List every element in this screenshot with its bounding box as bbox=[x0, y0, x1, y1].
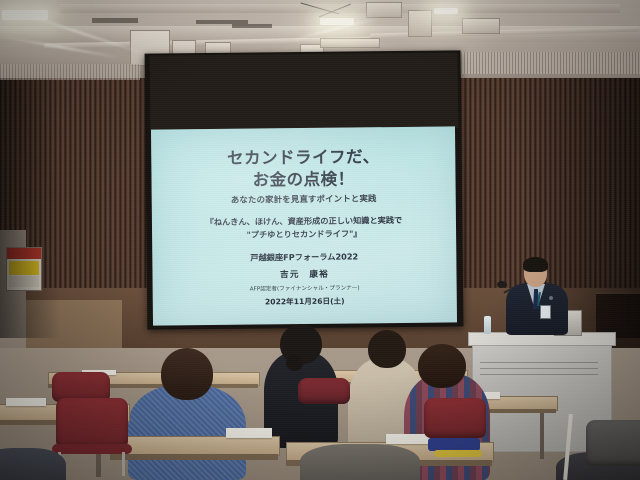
chair-front-left-seat bbox=[52, 444, 132, 454]
ceiling-grille-left bbox=[0, 64, 140, 80]
ceiling-fixture-box-e bbox=[366, 2, 402, 18]
table-front-mid bbox=[110, 436, 280, 456]
slide-quote-line2: "プチゆとりセカンドライフ"』 bbox=[152, 226, 456, 241]
slide-organizer: 戸越銀座FPフォーラム2022 bbox=[152, 249, 456, 264]
attendee-plaid-scarf-head bbox=[418, 344, 466, 388]
water-bottle bbox=[484, 316, 491, 334]
ceiling-fixture-box-f bbox=[462, 18, 500, 34]
chair-near-podium bbox=[298, 378, 350, 404]
speaker-lapel-pin bbox=[549, 296, 553, 300]
presentation-slide: セカンドライフだ、 お金の点検！ あなたの家計を見直すポイントと実践 『ねんきん… bbox=[151, 126, 457, 325]
ceiling-vent-slot-a bbox=[92, 18, 138, 23]
slide-date: 2022年11月26日(土) bbox=[153, 294, 457, 308]
left-wall-shadow bbox=[0, 38, 60, 338]
lectern-groove-b bbox=[480, 368, 598, 369]
ceiling-light-right bbox=[434, 8, 458, 14]
chair-front-left-leg-b bbox=[122, 452, 125, 476]
attendee-beige-top-head bbox=[368, 330, 406, 368]
ceiling-vent-slot-c bbox=[232, 24, 272, 28]
speaker-name-badge bbox=[540, 305, 551, 319]
slide-title-line2: お金の点検！ bbox=[151, 168, 455, 192]
screen-top-border bbox=[150, 52, 459, 131]
lectern-groove-c bbox=[480, 374, 598, 375]
speaker-hair bbox=[523, 257, 548, 272]
attendee-ponytail bbox=[286, 355, 303, 371]
chair-foreground-right bbox=[586, 420, 640, 466]
attendee-blue-sweater-head bbox=[161, 348, 213, 400]
attendee-grey-front-left-body bbox=[300, 444, 420, 480]
ceiling-fixture-box-c bbox=[320, 38, 380, 48]
paper-front-mid bbox=[226, 428, 272, 438]
slide-speaker-name: 吉元 康裕 bbox=[152, 266, 456, 281]
table-mid-right-leg bbox=[540, 413, 544, 459]
lectern-groove-a bbox=[480, 362, 598, 363]
paper-front-left bbox=[6, 398, 46, 406]
slide-subtitle: あなたの家計を見直すポイントと実践 bbox=[152, 192, 456, 207]
chair-mid-right bbox=[424, 398, 486, 438]
chair-front-left bbox=[56, 398, 128, 448]
ceiling-fixture-box-d bbox=[408, 10, 432, 37]
attendee-front-far-left-body bbox=[0, 448, 66, 480]
yellow-folder bbox=[434, 450, 482, 457]
slide-credential: AFP認定者(ファイナンシャル・プランナー) bbox=[153, 282, 457, 293]
microphone-head bbox=[497, 281, 507, 288]
seminar-room-photo: セカンドライフだ、 お金の点検！ あなたの家計を見直すポイントと実践 『ねんきん… bbox=[0, 0, 640, 480]
ceiling-grille-right bbox=[446, 52, 640, 74]
slide-title-line1: セカンドライフだ、 bbox=[151, 145, 455, 169]
table-front-mid-edge bbox=[110, 454, 278, 460]
